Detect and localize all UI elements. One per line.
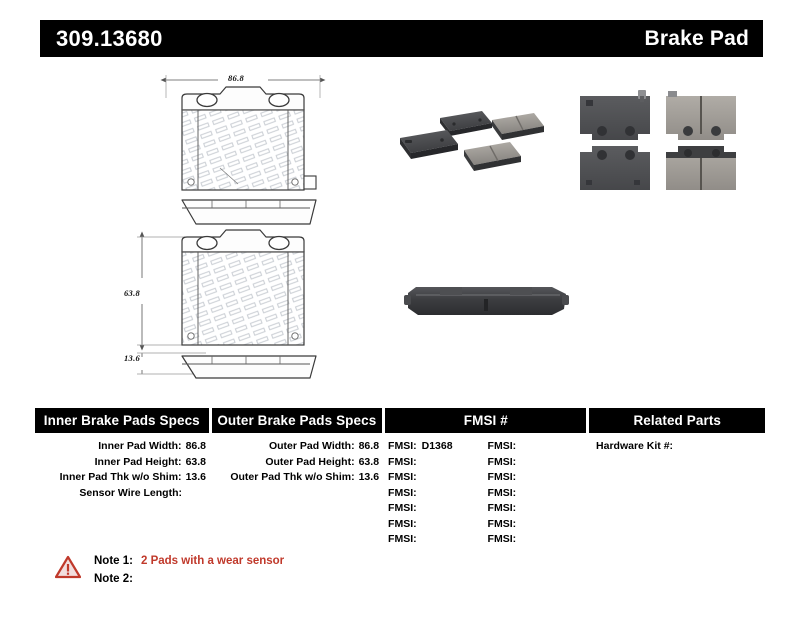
fmsi-column: FMSI: D1368 FMSI: FMSI: FMSI: — [384, 439, 587, 548]
fmsi-row: FMSI: — [388, 470, 488, 486]
spec-label: Inner Pad Width: — [98, 439, 181, 455]
fmsi-row: FMSI: — [488, 439, 588, 455]
table-header-row: Inner Brake Pads Specs Outer Brake Pads … — [35, 408, 765, 433]
note-1-label: Note 1: — [94, 552, 133, 570]
fmsi-label: FMSI: — [388, 532, 417, 548]
header-related-parts: Related Parts — [589, 408, 765, 433]
fmsi-row: FMSI: — [488, 486, 588, 502]
note-2-row: Note 2: — [94, 570, 284, 588]
spec-value: 63.8 — [186, 455, 206, 471]
fmsi-label: FMSI: — [388, 517, 417, 533]
fmsi-row: FMSI: — [388, 532, 488, 548]
fmsi-row: FMSI: — [488, 455, 588, 471]
header-fmsi: FMSI # — [385, 408, 586, 433]
fmsi-row: FMSI: — [488, 517, 588, 533]
note-1-row: Note 1: 2 Pads with a wear sensor — [94, 552, 284, 570]
spec-value: 63.8 — [359, 455, 379, 471]
fmsi-row: FMSI: — [488, 532, 588, 548]
fmsi-row: FMSI: — [388, 501, 488, 517]
fmsi-label: FMSI: — [388, 486, 417, 502]
header-inner-specs: Inner Brake Pads Specs — [35, 408, 209, 433]
spec-value: 86.8 — [359, 439, 379, 455]
fmsi-subcolumn-right: FMSI: FMSI: FMSI: FMSI: — [488, 439, 588, 548]
product-type: Brake Pad — [644, 28, 749, 49]
fmsi-label: FMSI: — [388, 470, 417, 486]
spec-sheet-page: 309.13680 Brake Pad 86.8 — [0, 0, 800, 619]
notes-section: Note 1: 2 Pads with a wear sensor Note 2… — [55, 552, 284, 588]
table-body: Inner Pad Width: 86.8 Inner Pad Height: … — [35, 433, 765, 548]
fmsi-subcolumn-left: FMSI: D1368 FMSI: FMSI: FMSI: — [388, 439, 488, 548]
fmsi-row: FMSI: D1368 — [388, 439, 488, 455]
spec-row: Inner Pad Thk w/o Shim: 13.6 — [35, 470, 208, 486]
spec-row: Outer Pad Height: 63.8 — [211, 455, 381, 471]
fmsi-label: FMSI: — [488, 517, 517, 533]
spec-label: Sensor Wire Length: — [79, 486, 182, 502]
outer-specs-column: Outer Pad Width: 86.8 Outer Pad Height: … — [211, 439, 381, 548]
header-outer-specs: Outer Brake Pads Specs — [212, 408, 383, 433]
spec-label: Inner Pad Thk w/o Shim: — [60, 470, 182, 486]
fmsi-row: FMSI: — [388, 486, 488, 502]
fmsi-value: D1368 — [422, 439, 453, 455]
bottom-pad-drawing — [110, 220, 360, 390]
fmsi-label: FMSI: — [488, 501, 517, 517]
spec-label: Outer Pad Thk w/o Shim: — [230, 470, 354, 486]
fmsi-label: FMSI: — [488, 532, 517, 548]
fmsi-row: FMSI: — [488, 501, 588, 517]
part-number: 309.13680 — [56, 28, 163, 50]
spec-label: Outer Pad Height: — [265, 455, 354, 471]
header-bar: 309.13680 Brake Pad — [40, 20, 763, 57]
hardware-kit-label: Hardware Kit #: — [590, 439, 765, 455]
fmsi-label: FMSI: — [388, 439, 417, 455]
fmsi-row: FMSI: — [388, 455, 488, 471]
fmsi-label: FMSI: — [488, 486, 517, 502]
specs-table: Inner Brake Pads Specs Outer Brake Pads … — [35, 408, 765, 548]
spec-value: 13.6 — [186, 470, 206, 486]
spec-row: Inner Pad Width: 86.8 — [35, 439, 208, 455]
spec-label: Outer Pad Width: — [269, 439, 355, 455]
top-pad-drawing — [160, 72, 360, 232]
inner-specs-column: Inner Pad Width: 86.8 Inner Pad Height: … — [35, 439, 208, 548]
fmsi-label: FMSI: — [388, 455, 417, 471]
spec-label: Inner Pad Height: — [95, 455, 182, 471]
fmsi-label: FMSI: — [488, 439, 517, 455]
fmsi-label: FMSI: — [488, 470, 517, 486]
spec-row: Outer Pad Thk w/o Shim: 13.6 — [211, 470, 381, 486]
pad-edge-photo — [402, 275, 572, 335]
spec-row: Outer Pad Width: 86.8 — [211, 439, 381, 455]
spec-value: 13.6 — [359, 470, 379, 486]
spec-row: Sensor Wire Length: — [35, 486, 208, 502]
fmsi-row: FMSI: — [488, 470, 588, 486]
fmsi-label: FMSI: — [488, 455, 517, 471]
spec-value: 86.8 — [186, 439, 206, 455]
note-1-text: 2 Pads with a wear sensor — [141, 552, 284, 570]
warning-triangle-icon — [55, 555, 81, 579]
drawings-area: 86.8 — [0, 60, 800, 390]
spec-row: Inner Pad Height: 63.8 — [35, 455, 208, 471]
fmsi-row: FMSI: — [388, 517, 488, 533]
pads-flatlay-photo — [572, 82, 748, 202]
related-parts-column: Hardware Kit #: — [590, 439, 765, 548]
fmsi-label: FMSI: — [388, 501, 417, 517]
note-2-label: Note 2: — [94, 570, 133, 588]
pads-angled-photo — [392, 78, 572, 198]
